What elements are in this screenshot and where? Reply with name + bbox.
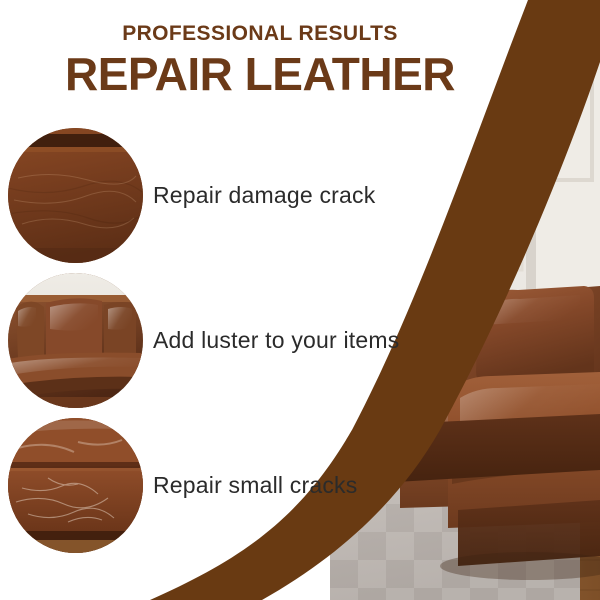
- cracked-leather-closeup-thumbnail: [8, 418, 143, 553]
- feature-row: Repair small cracks: [8, 418, 488, 553]
- glossy-leather-sofa-closeup-thumbnail: [8, 273, 143, 408]
- feature-row: Add luster to your items: [8, 273, 488, 408]
- feature-label: Add luster to your items: [153, 327, 488, 354]
- leather-surface-closeup-thumbnail: [8, 128, 143, 263]
- page-title: REPAIR LEATHER: [0, 50, 520, 98]
- promo-banner: PROFESSIONAL RESULTS REPAIR LEATHER: [0, 0, 600, 600]
- eyebrow-text: PROFESSIONAL RESULTS: [0, 22, 520, 46]
- feature-row: Repair damage crack: [8, 128, 488, 263]
- feature-label: Repair small cracks: [153, 472, 488, 499]
- feature-label: Repair damage crack: [153, 182, 488, 209]
